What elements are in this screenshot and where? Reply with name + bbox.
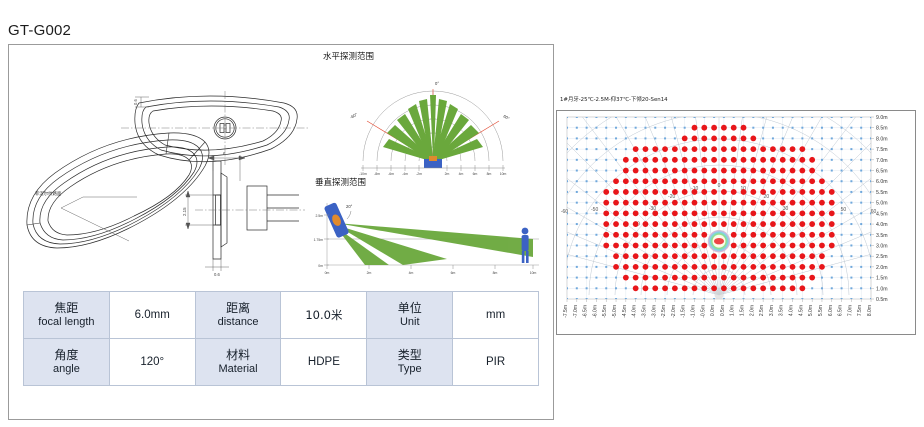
- detected-point: [760, 189, 766, 195]
- x-tick-1: -7.0m: [573, 305, 579, 318]
- undetected-point: [850, 266, 852, 268]
- detected-point: [760, 178, 766, 184]
- detected-point: [731, 136, 737, 142]
- detected-point: [711, 125, 717, 131]
- y-tick-9: 4.5m: [876, 211, 888, 217]
- x-tick-0: -7.5m: [563, 305, 569, 318]
- spec-header-distance: 距离 distance: [195, 292, 281, 339]
- detected-point: [780, 253, 786, 259]
- spec-table: 焦距 focal length 6.0mm 距离 distance 10.0米 …: [23, 291, 539, 386]
- detected-point: [780, 275, 786, 281]
- detected-point: [721, 125, 727, 131]
- x-tick-24: 4.5m: [798, 305, 804, 316]
- undetected-point: [684, 116, 686, 118]
- y-tick-11: 3.5m: [876, 233, 888, 239]
- y-tick-16: 1.0m: [876, 286, 888, 292]
- page-title: GT-G002: [8, 22, 71, 39]
- undetected-point: [821, 287, 823, 289]
- detected-point: [672, 221, 678, 227]
- detected-point: [809, 253, 815, 259]
- spec-header-focal-length: 焦距 focal length: [24, 292, 110, 339]
- detected-point: [750, 189, 756, 195]
- undetected-point: [860, 223, 862, 225]
- detected-point: [692, 232, 698, 238]
- y-tick-5: 6.5m: [876, 169, 888, 175]
- undetected-point: [586, 116, 588, 118]
- undetected-point: [595, 255, 597, 257]
- undetected-point: [566, 148, 568, 150]
- detected-point: [829, 200, 835, 206]
- detected-point: [780, 189, 786, 195]
- detected-point: [603, 232, 609, 238]
- detected-point: [662, 285, 668, 291]
- drawing-side-section: 6 2.15 0.6: [182, 151, 305, 277]
- detected-point: [731, 285, 737, 291]
- x-tick-26: 5.5m: [818, 305, 824, 316]
- detected-point: [780, 146, 786, 152]
- detected-point: [672, 157, 678, 163]
- detected-point: [711, 168, 717, 174]
- detected-point: [731, 210, 737, 216]
- v-xtick-1: 2m: [367, 271, 372, 275]
- detected-point: [633, 275, 639, 281]
- detected-point: [633, 200, 639, 206]
- detected-point: [643, 189, 649, 195]
- h-angle-label-neg60: -60°: [349, 112, 358, 120]
- undetected-point: [566, 202, 568, 204]
- detected-point: [652, 285, 658, 291]
- technical-drawings: 0.6 菲涅尔纹路面: [9, 45, 553, 283]
- detected-point: [672, 253, 678, 259]
- h-xtick-9: 10m: [500, 172, 507, 176]
- undetected-point: [841, 127, 843, 129]
- detected-point: [613, 200, 619, 206]
- detected-point: [613, 178, 619, 184]
- undetected-point: [586, 127, 588, 129]
- detected-point: [603, 221, 609, 227]
- detected-point: [780, 285, 786, 291]
- detected-point: [623, 221, 629, 227]
- detected-point: [692, 253, 698, 259]
- x-tick-29: 7.0m: [847, 305, 853, 316]
- detected-point: [652, 189, 658, 195]
- x-tick-27: 6.0m: [828, 305, 834, 316]
- undetected-point: [615, 277, 617, 279]
- undetected-point: [841, 159, 843, 161]
- undetected-point: [782, 137, 784, 139]
- detected-point: [692, 285, 698, 291]
- detected-point: [799, 264, 805, 270]
- x-tick-21: 3.0m: [769, 305, 775, 316]
- spec-header-distance-en: distance: [197, 315, 280, 329]
- undetected-point: [595, 277, 597, 279]
- detected-point: [701, 285, 707, 291]
- undetected-point: [576, 191, 578, 193]
- x-tick-30: 7.5m: [857, 305, 863, 316]
- detected-point: [711, 200, 717, 206]
- spec-header-angle-zh: 角度: [25, 348, 108, 362]
- undetected-point: [841, 148, 843, 150]
- undetected-point: [595, 180, 597, 182]
- undetected-point: [841, 255, 843, 257]
- undetected-point: [841, 234, 843, 236]
- detected-point: [603, 189, 609, 195]
- y-tick-12: 3.0m: [876, 243, 888, 249]
- detected-point: [770, 157, 776, 163]
- detected-point: [711, 264, 717, 270]
- detected-point: [721, 189, 727, 195]
- undetected-point: [595, 148, 597, 150]
- detected-point: [741, 189, 747, 195]
- undetected-point: [743, 116, 745, 118]
- x-tick-3: -6.0m: [592, 305, 598, 318]
- v-angle-label: 20°: [346, 204, 353, 209]
- detected-point: [643, 157, 649, 163]
- spec-header-material: 材料 Material: [195, 339, 281, 386]
- detected-point: [770, 178, 776, 184]
- spec-value-unit: mm: [453, 292, 539, 339]
- x-tick-19: 2.0m: [749, 305, 755, 316]
- detected-point: [780, 200, 786, 206]
- undetected-point: [566, 255, 568, 257]
- undetected-point: [625, 116, 627, 118]
- detected-point: [790, 253, 796, 259]
- detected-point: [623, 189, 629, 195]
- detected-point: [623, 275, 629, 281]
- detected-point: [721, 178, 727, 184]
- detected-point: [643, 210, 649, 216]
- detected-point: [780, 178, 786, 184]
- undetected-point: [586, 266, 588, 268]
- undetected-point: [684, 127, 686, 129]
- detected-point: [770, 253, 776, 259]
- detected-point: [603, 243, 609, 249]
- undetected-point: [566, 116, 568, 118]
- undetected-point: [605, 159, 607, 161]
- detected-point: [643, 264, 649, 270]
- detected-point: [711, 189, 717, 195]
- detected-point: [760, 285, 766, 291]
- undetected-point: [850, 223, 852, 225]
- x-tick-14: -0.5m: [700, 305, 706, 318]
- detected-point: [770, 264, 776, 270]
- undetected-point: [576, 287, 578, 289]
- undetected-point: [566, 287, 568, 289]
- detected-point: [790, 275, 796, 281]
- undetected-point: [860, 137, 862, 139]
- undetected-point: [586, 180, 588, 182]
- detected-point: [682, 221, 688, 227]
- undetected-point: [576, 244, 578, 246]
- undetected-point: [831, 287, 833, 289]
- undetected-point: [615, 287, 617, 289]
- vertical-chart-title: 垂直探测范围: [315, 177, 366, 188]
- undetected-point: [644, 137, 646, 139]
- undetected-point: [586, 244, 588, 246]
- detected-point: [731, 168, 737, 174]
- detected-point: [672, 264, 678, 270]
- x-tick-28: 6.5m: [838, 305, 844, 316]
- detected-point: [652, 243, 658, 249]
- undetected-point: [772, 116, 774, 118]
- detected-point: [613, 221, 619, 227]
- detected-point: [780, 264, 786, 270]
- undetected-point: [841, 266, 843, 268]
- detected-point: [721, 200, 727, 206]
- undetected-point: [841, 116, 843, 118]
- angle-tick-0: 0: [718, 183, 721, 189]
- undetected-point: [860, 148, 862, 150]
- detected-point: [731, 221, 737, 227]
- detected-point: [721, 275, 727, 281]
- detected-point: [780, 221, 786, 227]
- y-tick-1: 8.5m: [876, 126, 888, 132]
- detection-map-svg: -40-30-20-10010203040-60-5060509.0m8.5m8…: [557, 111, 915, 334]
- detected-point: [731, 243, 737, 249]
- detected-point: [692, 243, 698, 249]
- detected-point: [780, 210, 786, 216]
- detected-point: [623, 168, 629, 174]
- detected-point: [672, 178, 678, 184]
- detected-point: [750, 243, 756, 249]
- y-tick-4: 7.0m: [876, 158, 888, 164]
- detected-point: [770, 168, 776, 174]
- undetected-point: [576, 266, 578, 268]
- undetected-point: [615, 170, 617, 172]
- undetected-point: [605, 255, 607, 257]
- undetected-point: [841, 244, 843, 246]
- detected-point: [770, 146, 776, 152]
- detected-point: [623, 157, 629, 163]
- undetected-point: [841, 137, 843, 139]
- spec-header-focal-length-zh: 焦距: [25, 301, 108, 315]
- spec-header-unit-en: Unit: [368, 315, 451, 329]
- detected-point: [741, 146, 747, 152]
- detected-point: [701, 275, 707, 281]
- spec-header-focal-length-en: focal length: [25, 315, 108, 329]
- undetected-point: [782, 116, 784, 118]
- detected-point: [741, 221, 747, 227]
- undetected-point: [850, 159, 852, 161]
- detected-point: [721, 157, 727, 163]
- v-ytick-2: 0m: [318, 264, 323, 268]
- detected-point: [682, 200, 688, 206]
- vertical-detection-chart: 垂直探测范围: [314, 177, 539, 275]
- detected-point: [633, 210, 639, 216]
- undetected-point: [850, 202, 852, 204]
- detected-point: [623, 232, 629, 238]
- spec-value-material: HDPE: [281, 339, 367, 386]
- undetected-point: [860, 202, 862, 204]
- detected-point: [662, 232, 668, 238]
- undetected-point: [605, 277, 607, 279]
- detected-point: [613, 264, 619, 270]
- undetected-point: [860, 255, 862, 257]
- detected-point: [760, 210, 766, 216]
- spec-header-material-zh: 材料: [197, 348, 280, 362]
- v-xtick-2: 4m: [409, 271, 414, 275]
- y-tick-7: 5.5m: [876, 190, 888, 196]
- x-tick-11: -2.0m: [671, 305, 677, 318]
- detected-point: [750, 136, 756, 142]
- detected-point: [603, 210, 609, 216]
- sensor-position-marker[interactable]: [708, 230, 730, 252]
- detected-point: [799, 285, 805, 291]
- detected-point: [770, 200, 776, 206]
- spec-header-type: 类型 Type: [367, 339, 453, 386]
- undetected-point: [586, 223, 588, 225]
- detected-point: [701, 200, 707, 206]
- detected-point: [633, 189, 639, 195]
- detected-point: [672, 232, 678, 238]
- undetected-point: [566, 223, 568, 225]
- detected-point: [652, 168, 658, 174]
- detected-point: [721, 146, 727, 152]
- undetected-point: [595, 170, 597, 172]
- detected-point: [780, 243, 786, 249]
- detected-point: [790, 189, 796, 195]
- detected-point: [780, 168, 786, 174]
- detected-point: [819, 210, 825, 216]
- undetected-point: [762, 127, 764, 129]
- undetected-point: [625, 148, 627, 150]
- detected-point: [799, 210, 805, 216]
- undetected-point: [566, 266, 568, 268]
- detected-point: [819, 178, 825, 184]
- detected-point: [662, 275, 668, 281]
- undetected-point: [664, 137, 666, 139]
- undetected-point: [576, 159, 578, 161]
- detected-point: [711, 146, 717, 152]
- x-tick-5: -5.0m: [612, 305, 618, 318]
- undetected-point: [713, 116, 715, 118]
- detected-point: [643, 253, 649, 259]
- detected-point: [652, 221, 658, 227]
- detected-point: [809, 189, 815, 195]
- undetected-point: [811, 137, 813, 139]
- undetected-point: [595, 244, 597, 246]
- undetected-point: [595, 202, 597, 204]
- detected-point: [662, 210, 668, 216]
- undetected-point: [850, 191, 852, 193]
- detected-point: [711, 221, 717, 227]
- undetected-point: [566, 180, 568, 182]
- undetected-point: [615, 148, 617, 150]
- detected-point: [701, 189, 707, 195]
- undetected-point: [625, 127, 627, 129]
- undetected-point: [850, 212, 852, 214]
- detected-point: [652, 232, 658, 238]
- undetected-point: [831, 116, 833, 118]
- detected-point: [799, 232, 805, 238]
- detected-point: [799, 243, 805, 249]
- spec-header-angle: 角度 angle: [24, 339, 110, 386]
- undetected-point: [821, 137, 823, 139]
- detected-point: [829, 243, 835, 249]
- detected-point: [701, 243, 707, 249]
- spec-value-focal-length: 6.0mm: [109, 292, 195, 339]
- angle-tick--20: -20: [668, 194, 675, 200]
- undetected-point: [595, 223, 597, 225]
- detected-point: [662, 178, 668, 184]
- undetected-point: [850, 255, 852, 257]
- heatmap-title: 1#月牙-25℃-2.5M-仰37℃-下倾20-Sen14: [560, 95, 900, 103]
- detected-point: [790, 146, 796, 152]
- detected-point: [692, 200, 698, 206]
- detected-point: [770, 232, 776, 238]
- y-tick-6: 6.0m: [876, 179, 888, 185]
- undetected-point: [831, 127, 833, 129]
- detected-point: [623, 253, 629, 259]
- detected-point: [819, 232, 825, 238]
- detected-point: [692, 146, 698, 152]
- detected-point: [809, 178, 815, 184]
- detected-point: [770, 285, 776, 291]
- detected-point: [662, 146, 668, 152]
- undetected-point: [576, 148, 578, 150]
- detected-point: [731, 264, 737, 270]
- spec-header-angle-en: angle: [25, 362, 108, 376]
- detected-point: [760, 157, 766, 163]
- detected-point: [692, 264, 698, 270]
- undetected-point: [860, 170, 862, 172]
- angle-tick-50: 50: [841, 207, 847, 213]
- detected-point: [643, 243, 649, 249]
- undetected-point: [576, 234, 578, 236]
- undetected-point: [644, 116, 646, 118]
- undetected-point: [860, 116, 862, 118]
- undetected-point: [703, 116, 705, 118]
- detected-point: [750, 168, 756, 174]
- detected-point: [711, 275, 717, 281]
- v-xtick-3: 6m: [451, 271, 456, 275]
- x-tick-2: -6.5m: [583, 305, 589, 318]
- undetected-point: [615, 159, 617, 161]
- undetected-point: [674, 116, 676, 118]
- undetected-point: [586, 170, 588, 172]
- angle-tick--50: -50: [591, 207, 598, 213]
- detected-point: [760, 264, 766, 270]
- detected-point: [790, 178, 796, 184]
- undetected-point: [831, 148, 833, 150]
- undetected-point: [654, 127, 656, 129]
- detected-point: [770, 210, 776, 216]
- y-tick-10: 4.0m: [876, 222, 888, 228]
- detected-point: [643, 168, 649, 174]
- undetected-point: [635, 127, 637, 129]
- detected-point: [701, 232, 707, 238]
- detected-point: [809, 232, 815, 238]
- x-tick-15: 0.0m: [710, 305, 716, 316]
- detected-point: [662, 264, 668, 270]
- undetected-point: [811, 148, 813, 150]
- detected-point: [790, 168, 796, 174]
- x-tick-12: -1.5m: [681, 305, 687, 318]
- undetected-point: [664, 127, 666, 129]
- detected-point: [819, 200, 825, 206]
- undetected-point: [674, 127, 676, 129]
- h-xtick-5: 2m: [445, 172, 450, 176]
- undetected-point: [586, 255, 588, 257]
- detected-point: [741, 157, 747, 163]
- detected-point: [701, 210, 707, 216]
- drawings-svg: 0.6 菲涅尔纹路面: [9, 45, 553, 283]
- detected-point: [770, 189, 776, 195]
- detected-point: [731, 232, 737, 238]
- undetected-point: [782, 127, 784, 129]
- detected-point: [760, 200, 766, 206]
- detected-point: [799, 200, 805, 206]
